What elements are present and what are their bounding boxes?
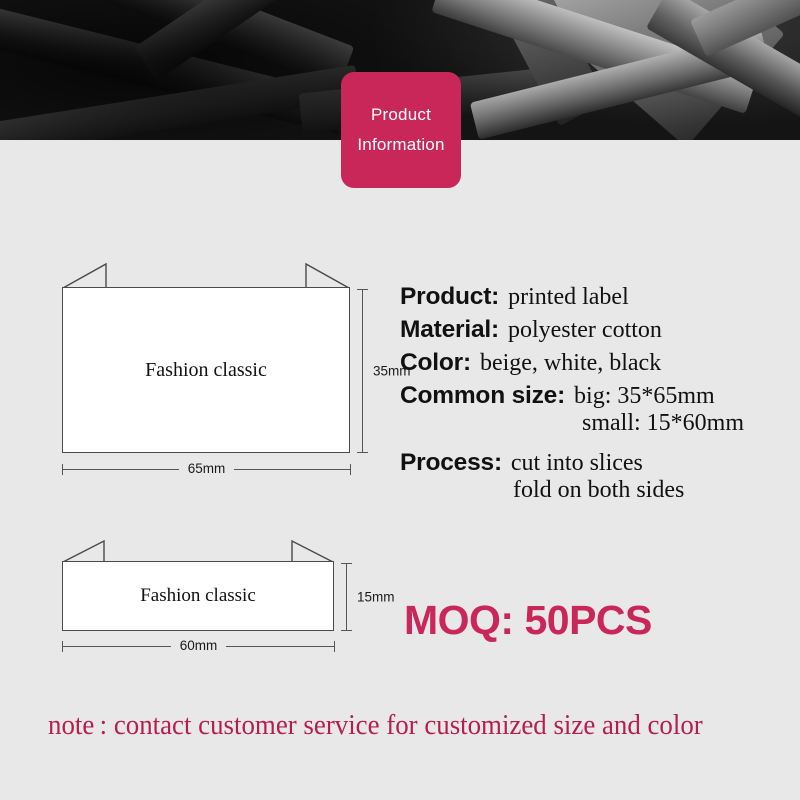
dimension-cap (334, 641, 335, 652)
spec-row-product: Product: printed label (400, 283, 792, 311)
small-label-width-dimension: 60mm (62, 639, 335, 654)
spec-row-process-second: fold on both sides (400, 477, 792, 504)
small-label-body: Fashion classic (62, 561, 334, 631)
product-information-badge: Product Information (341, 72, 461, 188)
spec-row-common-size-second: small: 15*60mm (400, 410, 792, 437)
dimension-cap (350, 464, 351, 475)
dimension-cap (357, 452, 368, 453)
spec-key: Common size: (400, 382, 565, 410)
big-label-body: Fashion classic (62, 287, 350, 453)
spec-value: polyester cotton (508, 317, 662, 344)
dimension-cap (341, 630, 352, 631)
spec-key: Process: (400, 449, 502, 477)
spec-value-secondary: fold on both sides (513, 477, 684, 504)
spec-key: Material: (400, 316, 499, 344)
spec-key: Color: (400, 349, 471, 377)
spec-key: Product: (400, 283, 499, 311)
dimension-line (63, 646, 170, 647)
spec-value: printed label (508, 284, 629, 311)
customization-note: note : contact customer service for cust… (48, 710, 703, 742)
dimension-line (346, 563, 347, 631)
spec-value: beige, white, black (480, 350, 661, 377)
small-label-diagram: Fashion classic 15mm 60mm (62, 538, 362, 658)
spec-row-color: Color: beige, white, black (400, 349, 792, 377)
spec-value: big: 35*65mm (574, 383, 715, 410)
spec-list: Product: printed label Material: polyest… (400, 283, 792, 504)
big-label-width-value: 65mm (179, 461, 235, 476)
product-info-page: Product Information Fashion classic 35mm… (0, 0, 800, 800)
spec-value: cut into slices (511, 450, 643, 477)
spec-row-material: Material: polyester cotton (400, 316, 792, 344)
spec-row-process: Process: cut into slices (400, 449, 792, 477)
badge-line-1: Product (371, 100, 431, 130)
small-label-height-value: 15mm (357, 590, 395, 605)
big-label-text: Fashion classic (145, 359, 267, 382)
small-label-text: Fashion classic (140, 585, 256, 607)
spec-row-common-size: Common size: big: 35*65mm (400, 382, 792, 410)
dimension-line (63, 469, 178, 470)
big-label-width-dimension: 65mm (62, 462, 351, 477)
badge-line-2: Information (357, 130, 444, 160)
spec-value-secondary: small: 15*60mm (582, 410, 744, 437)
dimension-line (226, 646, 333, 647)
dimension-line (362, 289, 363, 453)
moq-text: MOQ: 50PCS (404, 597, 652, 644)
dimension-line (234, 469, 349, 470)
small-label-width-value: 60mm (171, 638, 227, 653)
big-label-diagram: Fashion classic 35mm 65mm (62, 262, 362, 482)
